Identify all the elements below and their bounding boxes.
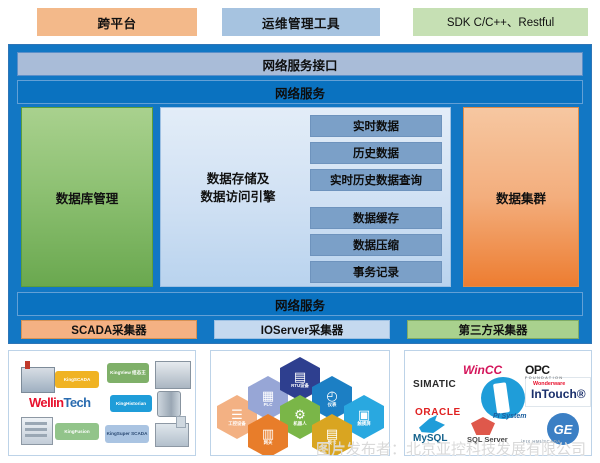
collector-third-party-label: 第三方采集器 (459, 322, 528, 338)
logo-sql-server: SQL Server (467, 435, 508, 444)
tag-sdk-label: SDK C/C++、Restful (447, 14, 554, 30)
layer-web-service-bottom: 网络服务 (17, 292, 583, 316)
panel-device-types: ☰ 工控设备 ▦ PLC ▤ RTU设备 ◴ 仪表 ⚙ 机器人 (210, 350, 390, 456)
function-data-cache-label: 数据缓存 (353, 210, 399, 226)
product-kingscada: KingSCADA (55, 371, 99, 388)
function-realtime-history-query-label: 实时历史数据查询 (330, 172, 422, 188)
factory-icon (21, 367, 55, 393)
logo-opc-label: OPC (525, 363, 550, 377)
tag-sdk: SDK C/C++、Restful (413, 8, 588, 36)
hex-robot-label: 机器人 (293, 421, 306, 426)
function-history-data: 历史数据 (310, 142, 442, 164)
platform-frame: 网络服务接口 网络服务 数据库管理 数据存储及 数据访问引擎 实时数据 (8, 44, 592, 344)
block-data-cluster-label: 数据集群 (496, 188, 546, 207)
robot-arm-icon: ⚙ (294, 408, 306, 421)
logo-wincc: WinCC (463, 363, 502, 377)
layer-web-service-interface-label: 网络服务接口 (262, 55, 337, 74)
product-kinghistorian: KingHistorian (110, 395, 152, 412)
wellintech-logo-right: Tech (63, 395, 90, 410)
layer-web-service-top: 网络服务 (17, 80, 583, 104)
function-list: 实时数据 历史数据 实时历史数据查询 数据缓存 数据压缩 事 (310, 115, 442, 288)
product-kingscada-label: KingSCADA (64, 377, 91, 383)
product-kingsuperscada: KingSuper SCADA (105, 425, 149, 443)
logo-ifix: iFIX HMI/SCADA (521, 439, 561, 444)
function-realtime-data: 实时数据 (310, 115, 442, 137)
block-storage-access-engine-label: 数据存储及 数据访问引擎 (173, 170, 303, 206)
hex-gateway-label: 网关 (264, 440, 273, 445)
product-kingfusion-label: KingFusion (64, 429, 89, 435)
collector-ioserver: IOServer采集器 (214, 320, 390, 339)
touch-screen-icon: ▣ (358, 408, 370, 421)
logo-oracle: ORACLE (415, 407, 461, 418)
hex-card-label: 板卡 (328, 440, 337, 445)
block-database-management: 数据库管理 (21, 107, 153, 287)
collector-scada: SCADA采集器 (21, 320, 197, 339)
function-history-data-label: 历史数据 (353, 145, 399, 161)
logo-mysql: MySQL (413, 433, 447, 444)
collector-scada-label: SCADA采集器 (71, 322, 146, 338)
hex-plc-label: PLC (264, 402, 273, 407)
hexagon-cluster: ☰ 工控设备 ▦ PLC ▤ RTU设备 ◴ 仪表 ⚙ 机器人 (217, 357, 385, 451)
tag-cross-platform: 跨平台 (37, 8, 197, 36)
logo-pi-system: PI System (493, 413, 526, 420)
panel-wellintech-products: KingSCADA KingView 组态王 KingHistorian Kin… (8, 350, 196, 456)
function-data-compression: 数据压缩 (310, 234, 442, 256)
engine-label-line2: 数据访问引擎 (173, 188, 303, 206)
collector-ioserver-label: IOServer采集器 (261, 322, 343, 338)
layer-web-service-top-label: 网络服务 (275, 83, 325, 102)
hex-meter-label: 仪表 (328, 402, 337, 407)
function-realtime-history-query: 实时历史数据查询 (310, 169, 442, 191)
cnc-machine-icon (155, 361, 191, 389)
function-data-cache: 数据缓存 (310, 207, 442, 229)
tag-ops-management-tools: 运维管理工具 (222, 8, 380, 36)
collector-row: SCADA采集器 IOServer采集器 第三方采集器 (17, 320, 583, 339)
rtu-icon: ▤ (294, 370, 306, 383)
gauge-icon: ◴ (326, 389, 337, 402)
hex-industrial-pc-label: 工控设备 (228, 421, 246, 426)
layer-web-service-interface: 网络服务接口 (17, 52, 583, 76)
power-plant-icon (155, 423, 189, 447)
tag-ops-management-tools-label: 运维管理工具 (262, 13, 340, 32)
function-realtime-data-label: 实时数据 (353, 118, 399, 134)
illustration-panels: KingSCADA KingView 组态王 KingHistorian Kin… (8, 350, 592, 458)
product-kingsuperscada-label: KingSuper SCADA (107, 431, 148, 437)
logo-opc-sub: FOUNDATION (525, 376, 564, 380)
product-kingview: KingView 组态王 (107, 363, 149, 383)
function-transaction-log-label: 事务记录 (353, 264, 399, 280)
block-data-cluster: 数据集群 (463, 107, 579, 287)
industrial-pc-icon: ☰ (231, 408, 243, 421)
plc-icon: ▦ (262, 389, 274, 402)
hex-screen-label: 触摸屏 (357, 421, 370, 426)
layer-web-service-bottom-label: 网络服务 (275, 295, 325, 314)
block-storage-access-engine: 数据存储及 数据访问引擎 实时数据 历史数据 实时历史数据查询 数据缓存 (160, 107, 451, 287)
architecture-diagram: 跨平台 运维管理工具 SDK C/C++、Restful 网络服务接口 网络服务… (0, 0, 600, 463)
block-database-management-label: 数据库管理 (56, 188, 119, 207)
product-kingview-label: KingView 组态王 (110, 370, 146, 376)
server-stack-icon (21, 417, 53, 445)
wellintech-logo: WellinTech (29, 395, 113, 411)
logo-intouch: InTouch® (531, 387, 586, 401)
storage-tank-icon (157, 391, 181, 417)
board-card-icon: ▤ (326, 427, 338, 440)
hex-rtu-label: RTU设备 (291, 383, 309, 388)
function-data-compression-label: 数据压缩 (353, 237, 399, 253)
product-kingfusion: KingFusion (55, 423, 99, 440)
product-kinghistorian-label: KingHistorian (116, 401, 146, 407)
core-section: 数据库管理 数据存储及 数据访问引擎 实时数据 历史数据 实时历史数据查询 (17, 107, 583, 287)
function-transaction-log: 事务记录 (310, 261, 442, 283)
panel-third-party-logos: SIMATIC WinCC OPCFOUNDATION ORACLE PI Sy… (404, 350, 592, 456)
logo-opc: OPCFOUNDATION (525, 363, 564, 380)
tag-cross-platform-label: 跨平台 (97, 13, 136, 32)
engine-label-line1: 数据存储及 (173, 170, 303, 188)
sql-server-icon (471, 417, 495, 435)
gateway-icon: ▥ (262, 427, 274, 440)
wellintech-logo-left: Wellin (29, 395, 63, 410)
top-capability-row: 跨平台 运维管理工具 SDK C/C++、Restful (0, 8, 600, 38)
collector-third-party: 第三方采集器 (407, 320, 579, 339)
logo-simatic: SIMATIC (413, 379, 456, 390)
